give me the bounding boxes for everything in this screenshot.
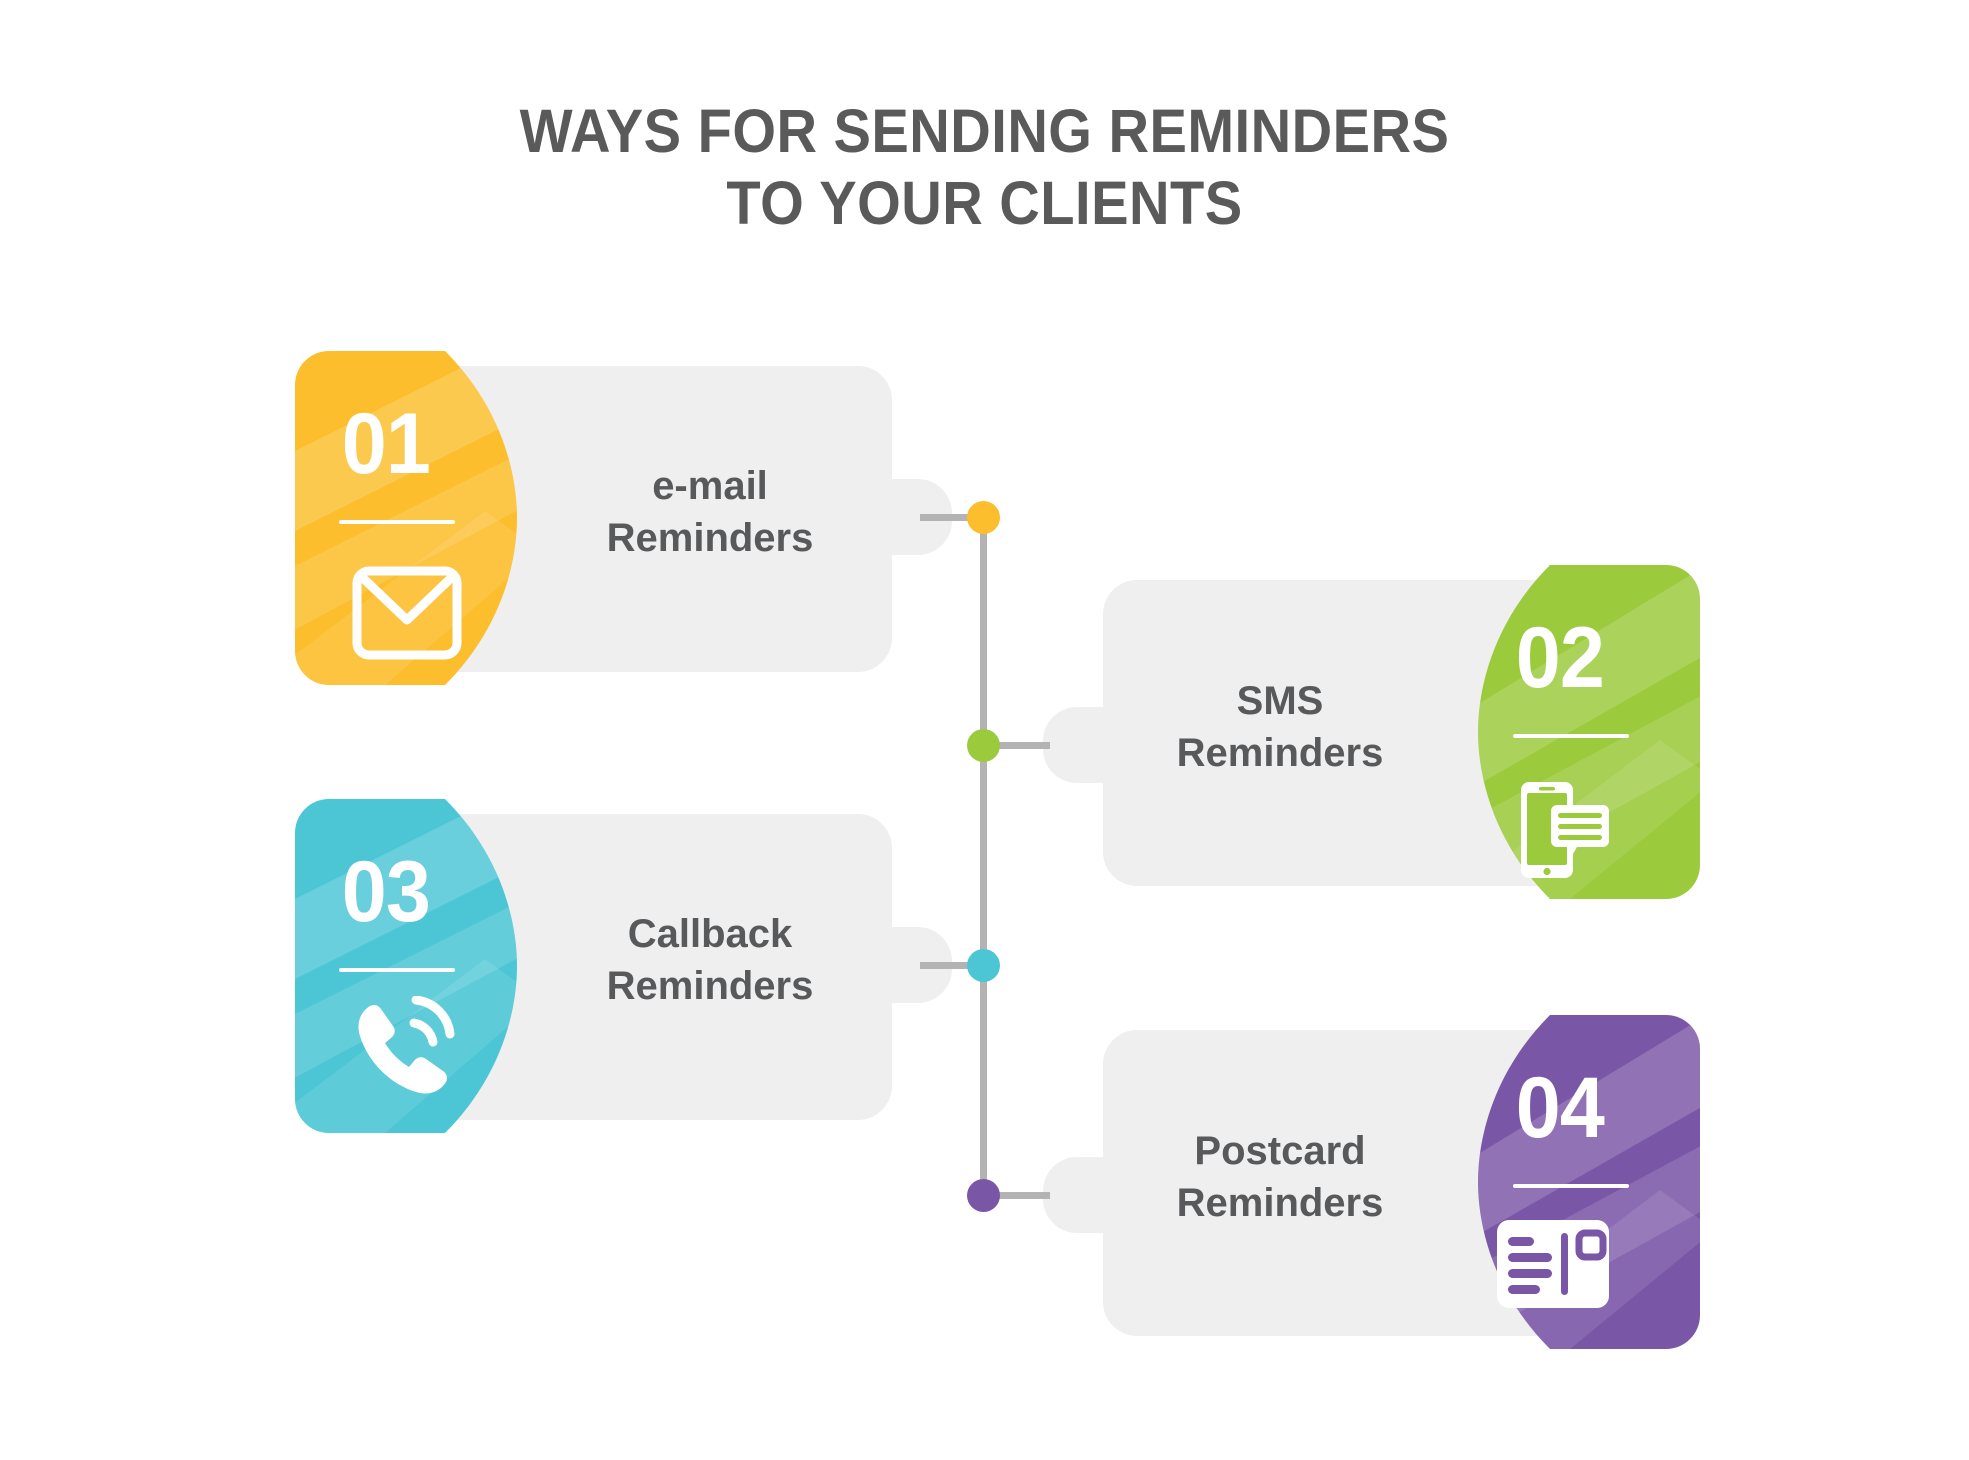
page-title-line-1: WAYS FOR SENDING REMINDERS	[79, 96, 1890, 168]
timeline-spine	[980, 517, 987, 1195]
step-card-1-label: e-mail Reminders	[560, 460, 860, 564]
timeline-dot-3[interactable]	[967, 949, 1000, 982]
step-card-4-label: Postcard Reminders	[1130, 1125, 1430, 1229]
timeline-dot-2[interactable]	[967, 729, 1000, 762]
page-title: WAYS FOR SENDING REMINDERS TO YOUR CLIEN…	[79, 96, 1890, 240]
step-card-2-rule	[1513, 734, 1629, 738]
timeline-dot-1[interactable]	[967, 501, 1000, 534]
step-card-1-rule	[339, 520, 455, 524]
phone-sms-icon	[1503, 779, 1611, 892]
step-card-2-label-line-1: SMS	[1237, 679, 1324, 723]
step-card-4-label-line-2: Reminders	[1177, 1181, 1384, 1225]
step-card-1-label-line-2: Reminders	[607, 516, 814, 560]
step-card-2-number: 02	[1516, 615, 1604, 701]
step-card-1-number: 01	[342, 401, 430, 487]
step-card-4-tab	[1043, 1157, 1109, 1233]
step-card-3-label: Callback Reminders	[560, 908, 860, 1012]
step-card-4-number: 04	[1516, 1065, 1604, 1151]
postcard-icon	[1497, 1220, 1609, 1313]
step-card-1-label-line-1: e-mail	[652, 464, 768, 508]
step-card-4-rule	[1513, 1184, 1629, 1188]
step-card-4-label-line-1: Postcard	[1194, 1129, 1365, 1173]
page-title-line-2: TO YOUR CLIENTS	[79, 168, 1890, 240]
step-card-2-tab	[1043, 707, 1109, 783]
phone-call-icon	[350, 996, 462, 1105]
step-card-3-number: 03	[342, 849, 430, 935]
step-card-3-label-line-1: Callback	[628, 912, 793, 956]
timeline-dot-4[interactable]	[967, 1179, 1000, 1212]
envelope-icon	[352, 566, 462, 665]
step-card-3-label-line-2: Reminders	[607, 964, 814, 1008]
step-card-3-rule	[339, 968, 455, 972]
step-card-2-label: SMS Reminders	[1130, 675, 1430, 779]
step-card-2-label-line-2: Reminders	[1177, 731, 1384, 775]
